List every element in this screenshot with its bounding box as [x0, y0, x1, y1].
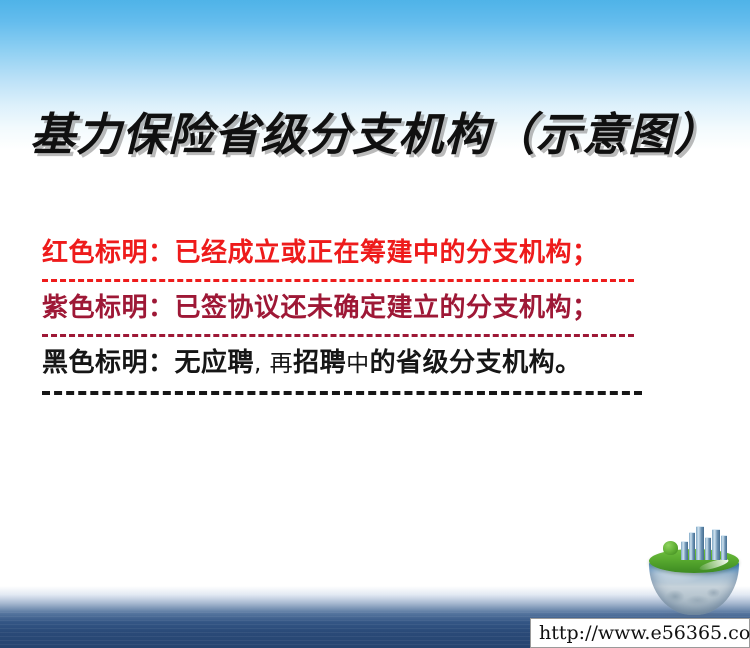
- watermark-url-text: http://www.e56365.com: [531, 622, 750, 644]
- legend-text-black-part2: , 再: [254, 351, 293, 377]
- building-6: [721, 535, 727, 560]
- slide-canvas: 基力保险省级分支机构（示意图） 红色标明：已经成立或正在筹建中的分支机构； 紫色…: [0, 0, 750, 648]
- legend-text-black-part4: 中: [346, 351, 370, 377]
- page-title: 基力保险省级分支机构（示意图）: [30, 98, 720, 163]
- legend-text-black-part3: 招聘: [293, 348, 346, 378]
- page-title-wrapper: 基力保险省级分支机构（示意图）: [0, 98, 750, 163]
- building-3: [696, 526, 704, 560]
- building-2: [689, 532, 695, 560]
- legend-divider-purple: [42, 334, 634, 337]
- building-4: [705, 537, 711, 560]
- legend-row-purple: 紫色标明：已签协议还未确定建立的分支机构；: [42, 288, 708, 330]
- building-5: [712, 529, 720, 560]
- legend-text-purple: 紫色标明：已签协议还未确定建立的分支机构；: [42, 288, 708, 328]
- legend-row-red: 红色标明：已经成立或正在筹建中的分支机构；: [42, 233, 708, 275]
- legend-divider-black: [42, 391, 642, 395]
- legend-text-black: 黑色标明：无应聘, 再招聘中的省级分支机构。: [42, 343, 708, 384]
- legend-text-black-part1: 黑色标明：无应聘: [42, 348, 254, 378]
- legend-text-black-part5: 的省级分支机构。: [370, 348, 582, 378]
- building-1: [681, 541, 688, 560]
- legend-divider-red: [42, 279, 634, 282]
- city-skyline-icon: [681, 526, 729, 560]
- legend-row-black: 黑色标明：无应聘, 再招聘中的省级分支机构。: [42, 343, 708, 385]
- legend-block: 红色标明：已经成立或正在筹建中的分支机构； 紫色标明：已签协议还未确定建立的分支…: [42, 233, 708, 395]
- watermark-url-box[interactable]: http://www.e56365.com: [530, 618, 750, 648]
- tree-icon: [663, 541, 678, 555]
- legend-text-red: 红色标明：已经成立或正在筹建中的分支机构；: [42, 233, 708, 273]
- globe-city-logo-icon: [641, 525, 747, 617]
